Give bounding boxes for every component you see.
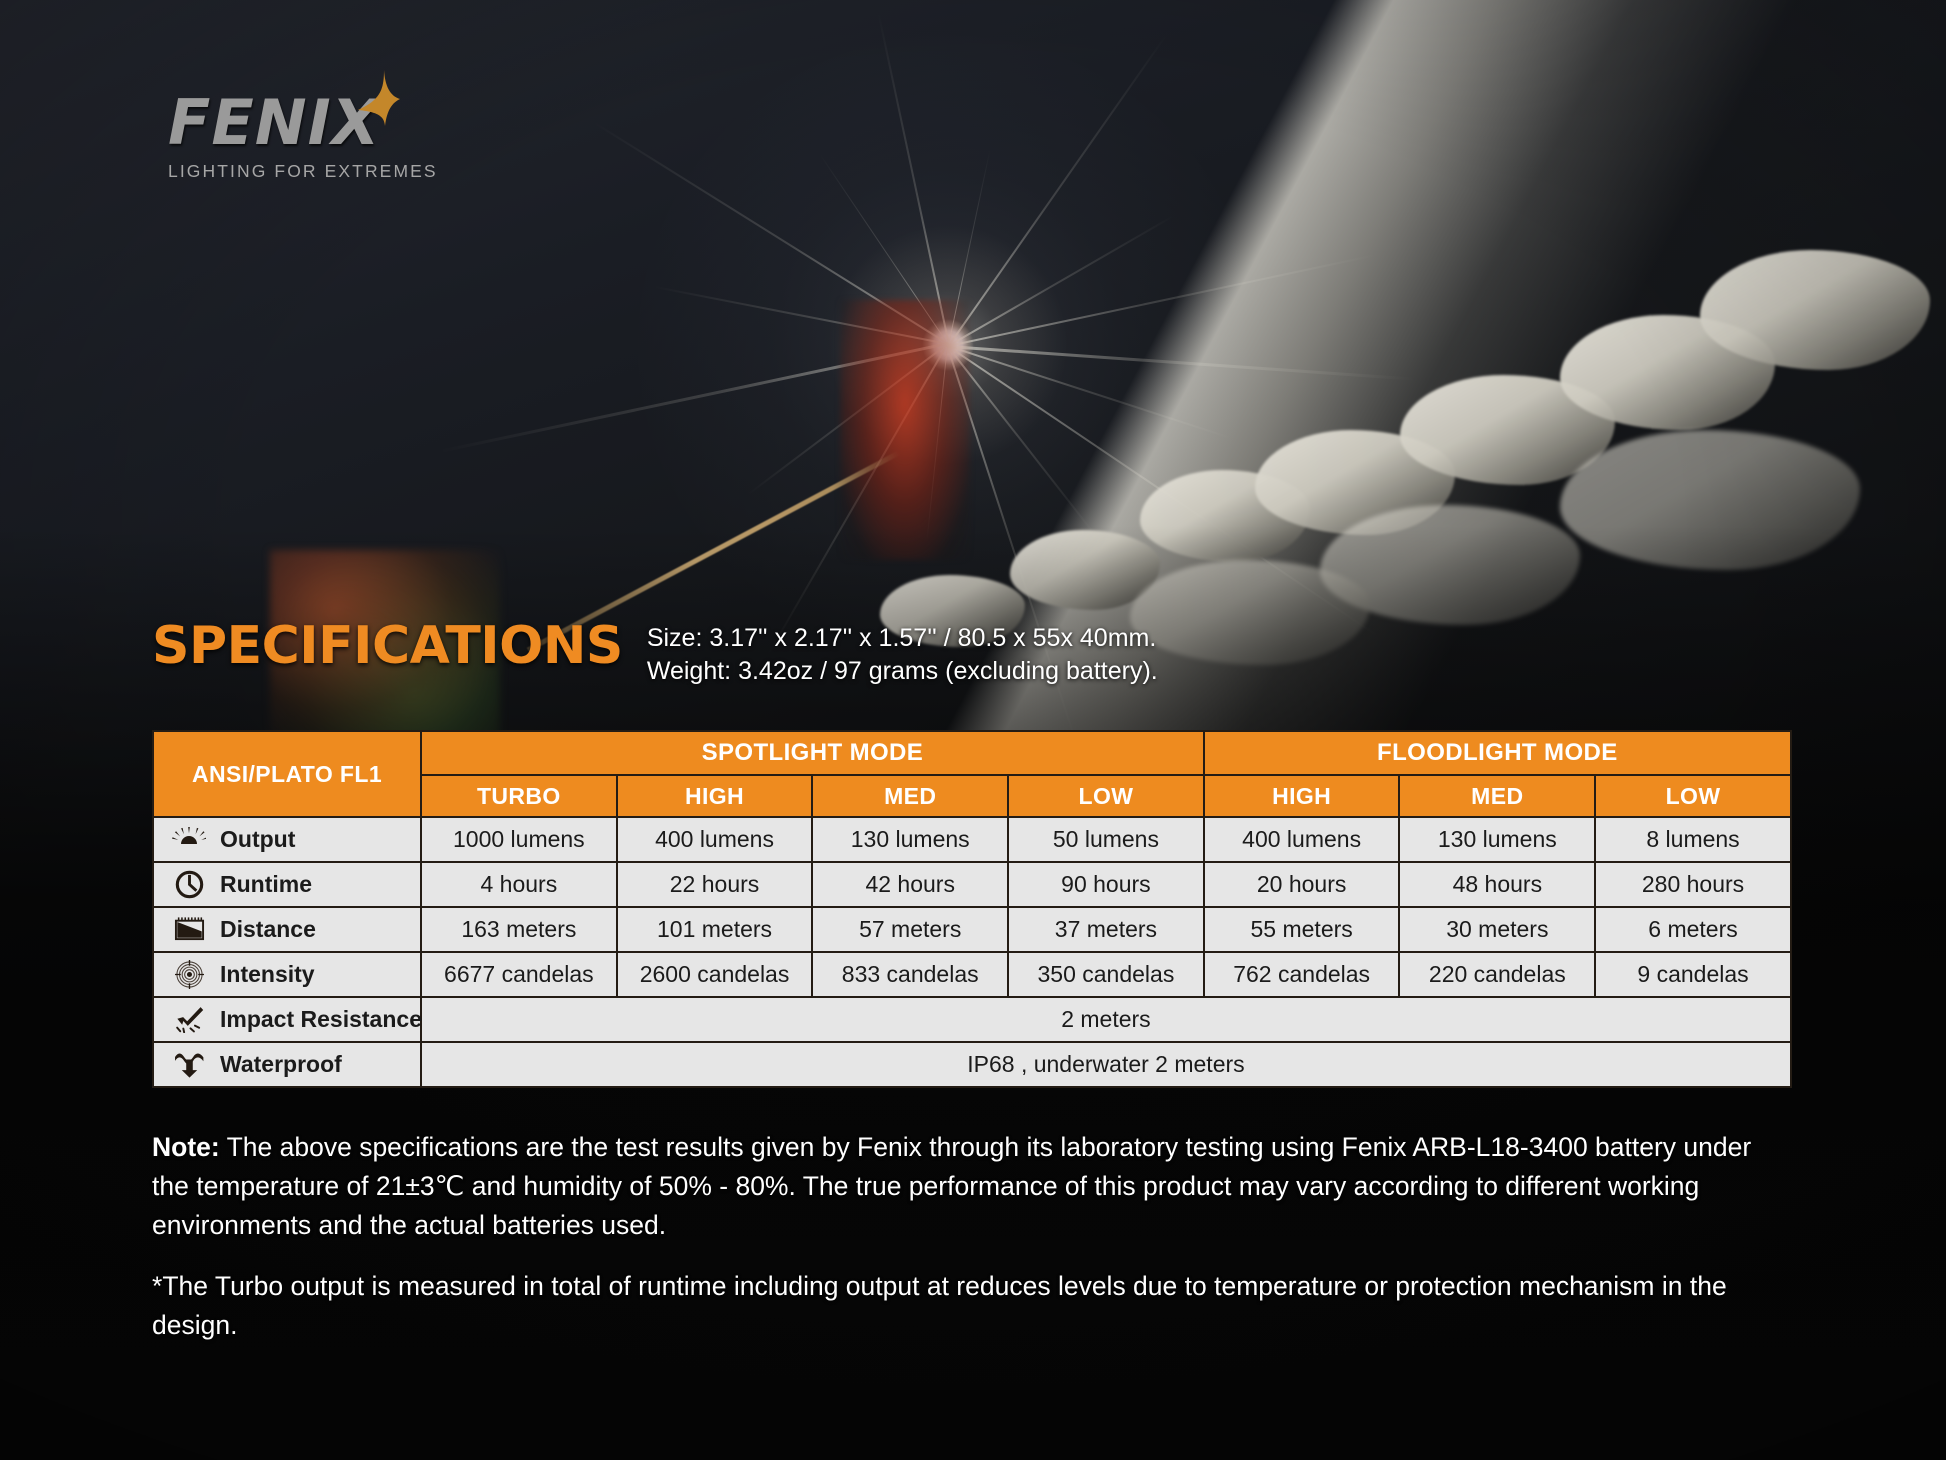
cell-value: 55 meters xyxy=(1204,907,1400,952)
note-body: The above specifications are the test re… xyxy=(152,1132,1751,1240)
floodlight-mode-header: FLOODLIGHT MODE xyxy=(1204,731,1791,775)
cell-value: 400 lumens xyxy=(1204,817,1400,862)
cell-value: 833 candelas xyxy=(812,952,1008,997)
cell-value: 6677 candelas xyxy=(421,952,617,997)
cell-value: 57 meters xyxy=(812,907,1008,952)
logo-tagline: LIGHTING FOR EXTREMES xyxy=(168,161,438,182)
cell-value: 400 lumens xyxy=(617,817,813,862)
row-label-output: Output xyxy=(153,817,421,862)
row-label-text: Waterproof xyxy=(220,1051,342,1078)
row-label-runtime: Runtime xyxy=(153,862,421,907)
cell-value: 130 lumens xyxy=(1399,817,1595,862)
cell-value: 90 hours xyxy=(1008,862,1204,907)
cell-value: 163 meters xyxy=(421,907,617,952)
level-header-spot-turbo: TURBO xyxy=(421,775,617,817)
row-label-distance: Distance xyxy=(153,907,421,952)
cell-value: 6 meters xyxy=(1595,907,1791,952)
table-row: Waterproof IP68 , underwater 2 meters xyxy=(153,1042,1791,1087)
table-row: Runtime 4 hours 22 hours 42 hours 90 hou… xyxy=(153,862,1791,907)
page-title: SPECIFICATIONS xyxy=(152,620,623,672)
row-label-text: Runtime xyxy=(220,871,312,898)
table-row: Output 1000 lumens 400 lumens 130 lumens… xyxy=(153,817,1791,862)
row-label-impact-resistance: Impact Resistance xyxy=(153,997,421,1042)
weight-line: Weight: 3.42oz / 97 grams (excluding bat… xyxy=(647,655,1158,688)
clock-icon xyxy=(172,870,206,900)
sunburst-icon xyxy=(172,825,206,855)
cell-value: 220 candelas xyxy=(1399,952,1595,997)
footnote-paragraph: *The Turbo output is measured in total o… xyxy=(152,1267,1792,1345)
level-header-flood-low: LOW xyxy=(1595,775,1791,817)
note-label: Note: xyxy=(152,1132,220,1162)
row-label-text: Distance xyxy=(220,916,316,943)
level-header-spot-med: MED xyxy=(812,775,1008,817)
cell-value: 130 lumens xyxy=(812,817,1008,862)
cell-value: 4 hours xyxy=(421,862,617,907)
level-header-flood-med: MED xyxy=(1399,775,1595,817)
cell-value: 1000 lumens xyxy=(421,817,617,862)
spotlight-mode-header: SPOTLIGHT MODE xyxy=(421,731,1204,775)
cell-value: 48 hours xyxy=(1399,862,1595,907)
cell-value: 22 hours xyxy=(617,862,813,907)
cell-value: 42 hours xyxy=(812,862,1008,907)
note-paragraph: Note: The above specifications are the t… xyxy=(152,1128,1792,1245)
row-label-intensity: Intensity xyxy=(153,952,421,997)
size-line: Size: 3.17'' x 2.17'' x 1.57'' / 80.5 x … xyxy=(647,622,1158,655)
cell-value: 30 meters xyxy=(1399,907,1595,952)
cell-value: 280 hours xyxy=(1595,862,1791,907)
row-label-text: Output xyxy=(220,826,295,853)
table-row: Impact Resistance 2 meters xyxy=(153,997,1791,1042)
cell-value: 9 candelas xyxy=(1595,952,1791,997)
table-row: Intensity 6677 candelas 2600 candelas 83… xyxy=(153,952,1791,997)
dimensions-block: Size: 3.17'' x 2.17'' x 1.57'' / 80.5 x … xyxy=(647,620,1158,687)
row-label-waterproof: Waterproof xyxy=(153,1042,421,1087)
cell-value: 8 lumens xyxy=(1595,817,1791,862)
beam-distance-icon xyxy=(172,915,206,945)
cell-value: 50 lumens xyxy=(1008,817,1204,862)
impact-hammer-icon xyxy=(172,1005,206,1035)
level-header-spot-low: LOW xyxy=(1008,775,1204,817)
table-group-header-row: ANSI/PLATO FL1 SPOTLIGHT MODE FLOODLIGHT… xyxy=(153,731,1791,775)
specifications-table: ANSI/PLATO FL1 SPOTLIGHT MODE FLOODLIGHT… xyxy=(152,730,1790,1088)
cell-value: 101 meters xyxy=(617,907,813,952)
cell-value-waterproof: IP68 , underwater 2 meters xyxy=(421,1042,1791,1087)
row-label-text: Intensity xyxy=(220,961,315,988)
cell-value: 37 meters xyxy=(1008,907,1204,952)
fenix-logo: FENIX LIGHTING FOR EXTREMES xyxy=(168,92,438,182)
table-row: Distance 163 meters 101 meters 57 meters… xyxy=(153,907,1791,952)
specifications-heading: SPECIFICATIONS Size: 3.17'' x 2.17'' x 1… xyxy=(152,620,1158,687)
level-header-spot-high: HIGH xyxy=(617,775,813,817)
target-intensity-icon xyxy=(172,960,206,990)
cell-value: 350 candelas xyxy=(1008,952,1204,997)
cell-value: 2600 candelas xyxy=(617,952,813,997)
star-icon xyxy=(354,70,400,126)
cell-value-impact: 2 meters xyxy=(421,997,1791,1042)
waterproof-icon xyxy=(172,1050,206,1080)
row-label-text: Impact Resistance xyxy=(220,1006,422,1033)
ansi-plato-header: ANSI/PLATO FL1 xyxy=(153,731,421,817)
notes-block: Note: The above specifications are the t… xyxy=(152,1128,1792,1345)
specifications-page: FENIX LIGHTING FOR EXTREMES SPECIFICATIO… xyxy=(0,0,1946,1460)
cell-value: 762 candelas xyxy=(1204,952,1400,997)
cell-value: 20 hours xyxy=(1204,862,1400,907)
level-header-flood-high: HIGH xyxy=(1204,775,1400,817)
